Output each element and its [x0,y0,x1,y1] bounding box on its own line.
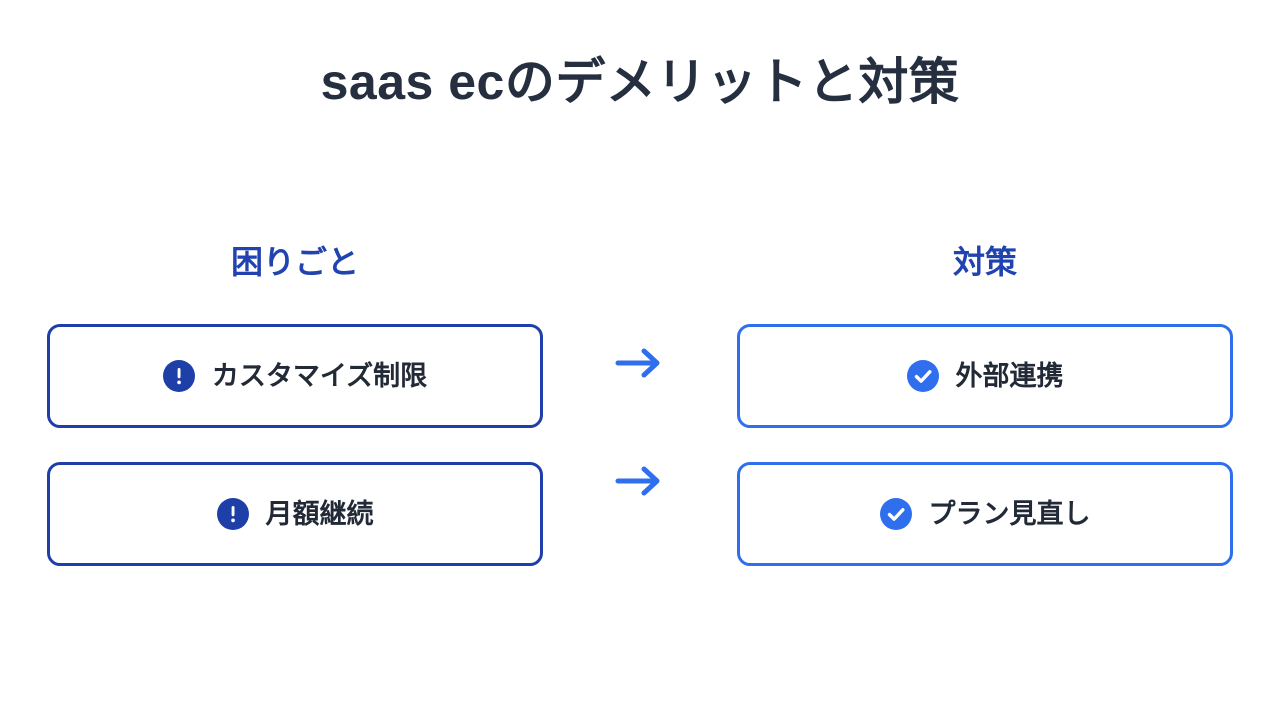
solution-label: 外部連携 [956,363,1064,390]
problem-label: カスタマイズ制限 [212,363,427,390]
card-content: カスタマイズ制限 [163,360,427,392]
arrow-right-icon [612,343,668,383]
arrow-right-icon [612,461,668,501]
check-circle-icon [880,498,912,530]
card-content: プラン見直し [880,498,1091,530]
column-header-solutions: 対策 [737,243,1233,281]
card-content: 外部連携 [907,360,1064,392]
slide-canvas: saas ecのデメリットと対策 困りごと 対策 カスタマイズ制限 [0,0,1280,720]
card-content: 月額継続 [217,498,374,530]
solution-card[interactable]: 外部連携 [737,324,1233,428]
page-title: saas ecのデメリットと対策 [0,52,1280,112]
solution-label: プラン見直し [929,501,1091,528]
column-header-problems: 困りごと [47,243,543,281]
problem-card[interactable]: カスタマイズ制限 [47,324,543,428]
problem-card[interactable]: 月額継続 [47,462,543,566]
problem-label: 月額継続 [266,501,374,528]
exclamation-icon [217,498,249,530]
check-circle-icon [907,360,939,392]
solution-card[interactable]: プラン見直し [737,462,1233,566]
exclamation-icon [163,360,195,392]
